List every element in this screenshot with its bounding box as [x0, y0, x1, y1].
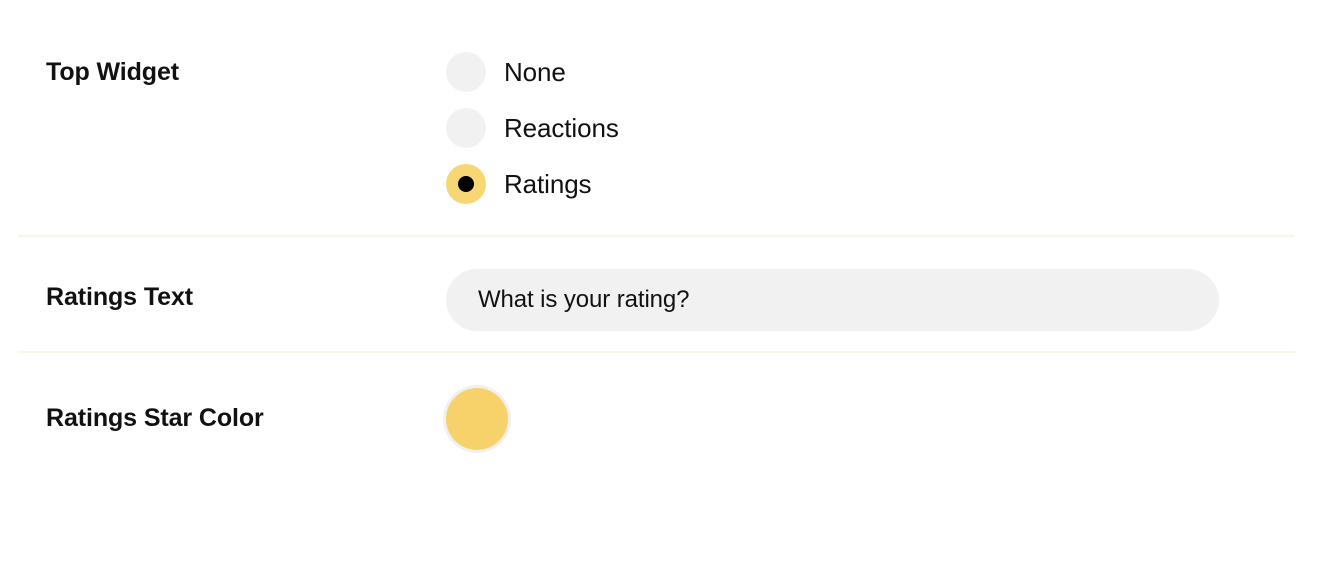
- form-row-ratings-star-color: Ratings Star Color: [0, 352, 1340, 564]
- radio-circle-icon: [446, 52, 486, 92]
- radio-option-reactions[interactable]: Reactions: [446, 108, 1340, 148]
- ratings-star-color-label: Ratings Star Color: [0, 388, 446, 431]
- settings-panel: Top Widget None Reactions: [0, 0, 1340, 564]
- top-widget-label: Top Widget: [0, 60, 446, 85]
- color-swatch-button[interactable]: [446, 388, 508, 450]
- ratings-text-control: What is your rating?: [446, 269, 1340, 331]
- top-widget-control: None Reactions Ratings: [446, 60, 1340, 204]
- radio-option-ratings[interactable]: Ratings: [446, 164, 1340, 204]
- form-row-ratings-text: Ratings Text What is your rating?: [0, 236, 1340, 352]
- ratings-star-color-control: [446, 388, 1340, 450]
- radio-label-reactions: Reactions: [504, 115, 619, 141]
- radio-label-none: None: [504, 59, 566, 85]
- radio-circle-selected-icon: [446, 164, 486, 204]
- form-row-top-widget: Top Widget None Reactions: [0, 0, 1340, 236]
- radio-label-ratings: Ratings: [504, 171, 591, 197]
- radio-circle-icon: [446, 108, 486, 148]
- top-widget-radio-group[interactable]: None Reactions Ratings: [446, 52, 1340, 204]
- radio-option-none[interactable]: None: [446, 52, 1340, 92]
- ratings-text-label: Ratings Text: [0, 269, 446, 310]
- ratings-text-input[interactable]: [446, 269, 1219, 331]
- radio-dot-icon: [458, 176, 474, 192]
